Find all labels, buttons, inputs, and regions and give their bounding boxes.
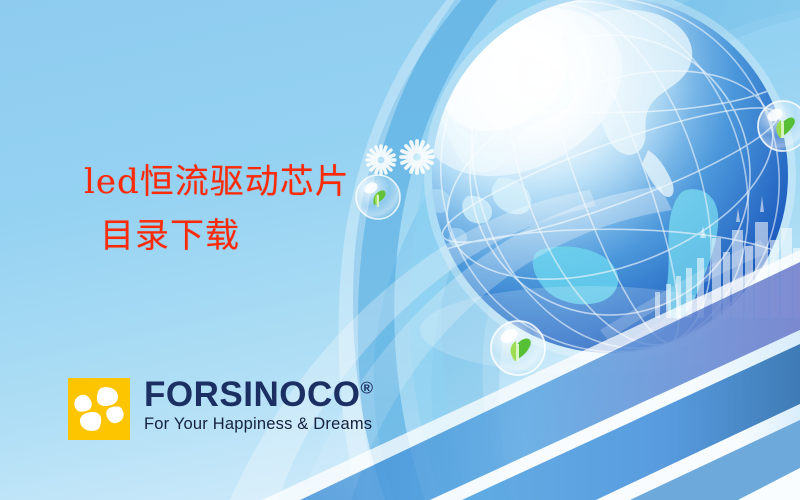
city-skyline-icon (655, 196, 800, 318)
registered-trademark-icon: ® (360, 378, 373, 397)
headline-line-2: 目录下载 (100, 214, 504, 258)
logo-text-block: FORSINOCO® For Your Happiness & Dreams (144, 378, 373, 434)
brand-logo[interactable]: FORSINOCO® For Your Happiness & Dreams (68, 378, 373, 440)
light-beam-icon (600, 240, 782, 358)
four-petal-flower-icon (68, 378, 130, 440)
logo-wordmark: FORSINOCO® (144, 378, 373, 412)
logo-wordmark-text: FORSINOCO (144, 375, 360, 414)
bubble-with-leaf-icon (758, 101, 800, 151)
bubble-with-leaf-icon (491, 321, 545, 375)
headline-line-1: led恒流驱动芯片 (84, 160, 504, 204)
logo-tagline: For Your Happiness & Dreams (144, 415, 373, 434)
promo-banner: led恒流驱动芯片 目录下载 FORSINOCO® For Your Happi… (0, 0, 800, 500)
page-title: led恒流驱动芯片 目录下载 (84, 160, 504, 258)
